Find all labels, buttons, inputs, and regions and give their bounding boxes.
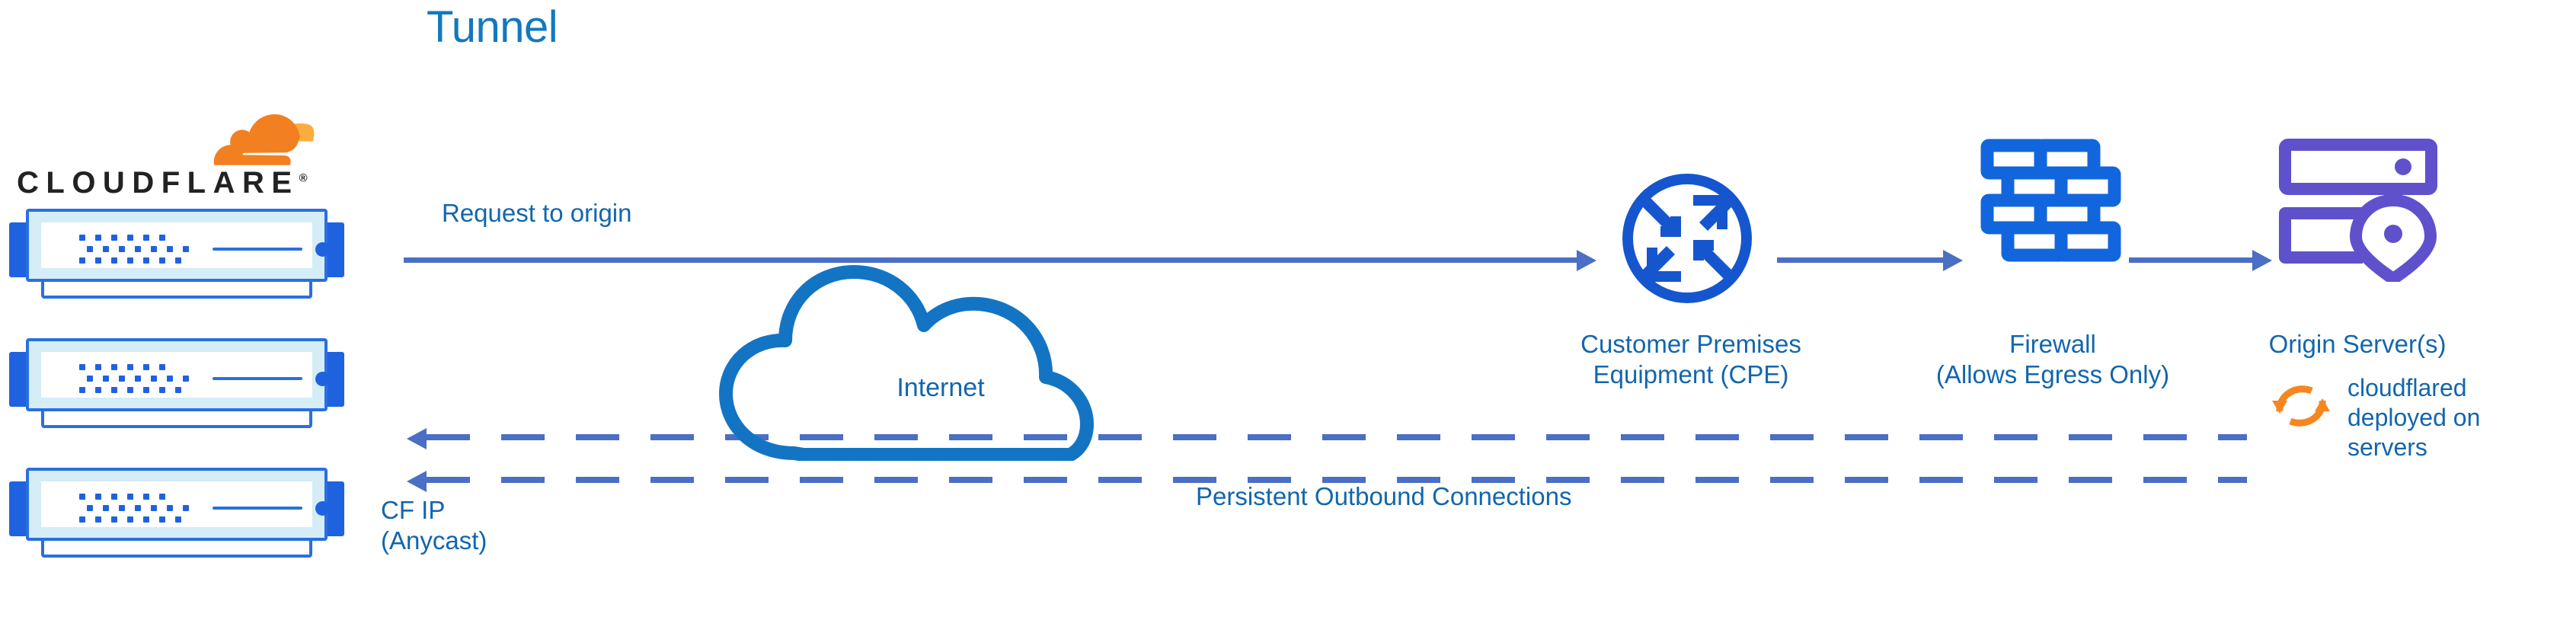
cloudflared-label-line1: cloudflared bbox=[2347, 373, 2530, 403]
sync-arrows-icon bbox=[2268, 373, 2334, 439]
tunnel-architecture-diagram: Tunnel CLOUDFLARE® bbox=[0, 0, 2576, 617]
firewall-label-line2: (Allows Egress Only) bbox=[1904, 360, 2201, 390]
request-to-origin-arrowhead bbox=[1577, 250, 1596, 271]
server-body bbox=[26, 468, 328, 541]
cf-edge-server-2 bbox=[9, 334, 344, 425]
server-rack-location-icon bbox=[2277, 137, 2439, 282]
server-slot-line bbox=[213, 248, 302, 251]
cpe-to-firewall-line bbox=[1777, 257, 1943, 263]
cf-edge-server-3 bbox=[9, 463, 344, 555]
cf-ip-label-line2: (Anycast) bbox=[381, 526, 609, 556]
diagram-title: Tunnel bbox=[427, 2, 558, 53]
cpe-label-line1: Customer Premises bbox=[1546, 329, 1836, 360]
server-faceplate bbox=[41, 222, 312, 268]
cloudflare-wordmark: CLOUDFLARE® bbox=[17, 166, 308, 200]
server-body bbox=[26, 209, 328, 282]
brick-wall-icon bbox=[1980, 139, 2122, 270]
cloudflared-label-line3: servers bbox=[2347, 433, 2530, 462]
cloudflare-cloud-logo-icon bbox=[160, 90, 335, 166]
server-vent-dots-icon bbox=[79, 235, 186, 265]
firewall-to-origin-line bbox=[2129, 257, 2252, 263]
request-to-origin-label: Request to origin bbox=[442, 198, 631, 229]
internet-label: Internet bbox=[849, 373, 1032, 403]
persistent-outbound-connections-label: Persistent Outbound Connections bbox=[1196, 481, 1775, 512]
internet-cloud-icon bbox=[712, 225, 1169, 461]
server-faceplate bbox=[41, 481, 312, 527]
firewall-label: Firewall (Allows Egress Only) bbox=[1904, 329, 2201, 390]
origin-server-label: Origin Server(s) bbox=[2224, 329, 2491, 360]
cf-edge-server-1 bbox=[9, 204, 344, 296]
server-vent-dots-icon bbox=[79, 364, 186, 395]
server-body bbox=[26, 338, 328, 411]
cloudflare-logo: CLOUDFLARE® bbox=[11, 90, 346, 189]
persistent-connection-arrowhead-bottom bbox=[407, 471, 427, 492]
server-slot-line bbox=[213, 377, 302, 380]
server-status-led bbox=[315, 372, 330, 386]
server-status-led bbox=[315, 501, 330, 516]
persistent-connection-arrowhead-top bbox=[407, 428, 427, 449]
persistent-connection-dashed-line-top bbox=[427, 434, 2247, 440]
cf-ip-anycast-label: CF IP (Anycast) bbox=[381, 495, 609, 556]
server-vent-dots-icon bbox=[79, 494, 186, 524]
server-status-led bbox=[315, 242, 330, 257]
cloudflared-label: cloudflared deployed on servers bbox=[2347, 373, 2530, 462]
firewall-label-line1: Firewall bbox=[1904, 329, 2201, 360]
cpe-to-firewall-arrowhead bbox=[1943, 250, 1963, 271]
cpe-label-line2: Equipment (CPE) bbox=[1546, 360, 1836, 390]
firewall-to-origin-arrowhead bbox=[2252, 250, 2272, 271]
router-icon bbox=[1615, 166, 1759, 311]
cpe-label: Customer Premises Equipment (CPE) bbox=[1546, 329, 1836, 390]
cloudflared-label-line2: deployed on bbox=[2347, 403, 2530, 433]
cf-ip-label-line1: CF IP bbox=[381, 495, 609, 526]
server-faceplate bbox=[41, 352, 312, 398]
server-slot-line bbox=[213, 507, 302, 510]
registered-mark: ® bbox=[299, 172, 308, 185]
cloudflare-wordmark-text: CLOUDFLARE bbox=[17, 166, 299, 200]
